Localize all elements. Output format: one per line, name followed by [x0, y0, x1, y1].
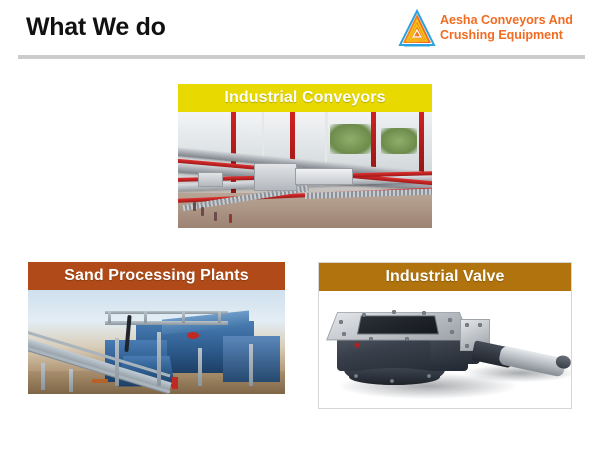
valve-brand-mark-icon: ◉: [354, 341, 360, 349]
card-industrial-valve[interactable]: Industrial Valve: [318, 262, 572, 409]
brand-logo: Aesha Conveyors And Crushing Equipment: [398, 7, 578, 51]
industrial-rotary-valve-photo: ◉: [319, 291, 571, 408]
sand-processing-plant-photo: [28, 290, 285, 394]
industrial-conveyor-line-photo: [178, 112, 432, 228]
aesha-triangle-logo-icon: [398, 9, 436, 49]
brand-name-line-2: Crushing Equipment: [440, 28, 573, 43]
brand-name-text: Aesha Conveyors And Crushing Equipment: [440, 13, 573, 43]
card-industrial-conveyors[interactable]: Industrial Conveyors: [178, 84, 432, 228]
card-sand-processing-plants[interactable]: Sand Processing Plants: [28, 262, 285, 394]
card-title-industrial-conveyors: Industrial Conveyors: [178, 84, 432, 112]
card-title-sand-processing-plants: Sand Processing Plants: [28, 262, 285, 290]
card-title-industrial-valve: Industrial Valve: [319, 263, 571, 291]
header-divider: [18, 55, 585, 59]
brand-name-line-1: Aesha Conveyors And: [440, 13, 573, 28]
page-title: What We do: [26, 13, 166, 42]
slide-header: What We do Aesha Conveyors And Crushing …: [0, 0, 600, 57]
